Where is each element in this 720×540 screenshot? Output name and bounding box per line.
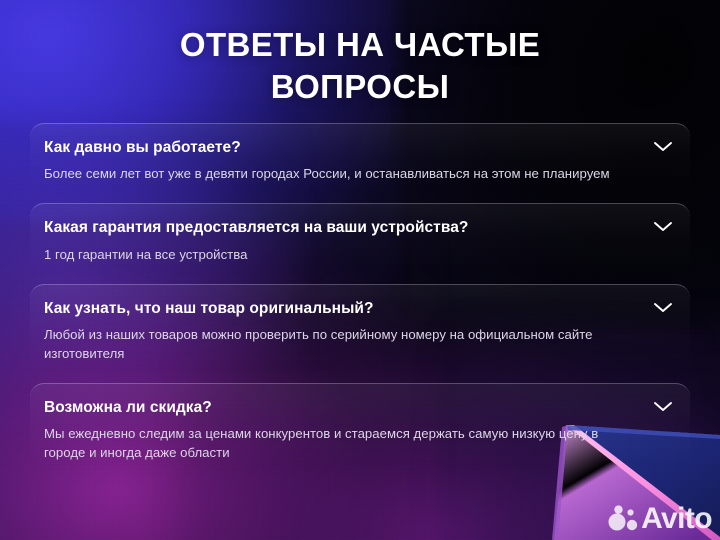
chevron-down-icon[interactable]: [652, 399, 674, 413]
chevron-down-icon[interactable]: [652, 300, 674, 314]
faq-question: Как узнать, что наш товар оригинальный?: [44, 299, 638, 318]
faq-screen: ОТВЕТЫ НА ЧАСТЫЕ ВОПРОСЫ Как давно вы ра…: [0, 0, 720, 540]
page-title-line-1: ОТВЕТЫ НА ЧАСТЫЕ: [180, 26, 540, 63]
faq-answer: Мы ежедневно следим за ценами конкуренто…: [44, 424, 634, 462]
faq-content: ОТВЕТЫ НА ЧАСТЫЕ ВОПРОСЫ Как давно вы ра…: [0, 0, 720, 540]
faq-item[interactable]: Как давно вы работаете? Более семи лет в…: [30, 123, 690, 196]
faq-answer: Более семи лет вот уже в девяти городах …: [44, 164, 634, 183]
faq-answer: Любой из наших товаров можно проверить п…: [44, 325, 634, 363]
page-title: ОТВЕТЫ НА ЧАСТЫЕ ВОПРОСЫ: [0, 0, 720, 108]
faq-question: Как давно вы работаете?: [44, 138, 638, 157]
faq-list: Как давно вы работаете? Более семи лет в…: [0, 123, 720, 476]
faq-question: Возможна ли скидка?: [44, 398, 638, 417]
chevron-down-icon[interactable]: [652, 219, 674, 233]
faq-item[interactable]: Как узнать, что наш товар оригинальный? …: [30, 284, 690, 376]
faq-question: Какая гарантия предоставляется на ваши у…: [44, 218, 638, 237]
faq-item[interactable]: Какая гарантия предоставляется на ваши у…: [30, 203, 690, 276]
faq-item[interactable]: Возможна ли скидка? Мы ежедневно следим …: [30, 383, 690, 475]
page-title-line-2: ВОПРОСЫ: [271, 68, 450, 105]
faq-answer: 1 год гарантии на все устройства: [44, 245, 634, 264]
chevron-down-icon[interactable]: [652, 139, 674, 153]
